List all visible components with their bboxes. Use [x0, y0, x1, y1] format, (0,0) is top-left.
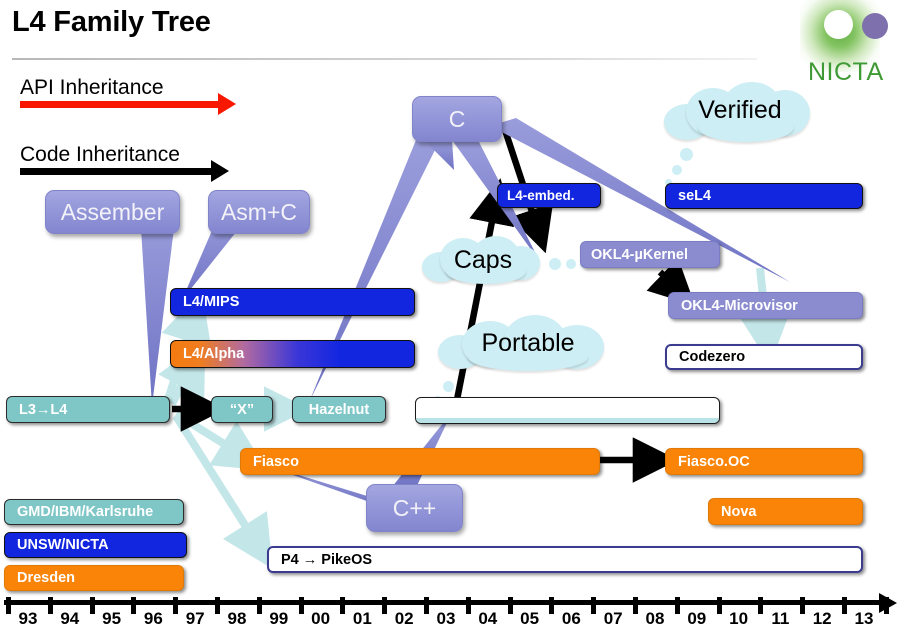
page-title: L4 Family Tree: [12, 6, 211, 39]
timeline-year-label: 11: [760, 609, 800, 629]
nicta-purple-dot-icon: [862, 13, 888, 39]
legend-code-inheritance-label: Code Inheritance: [20, 143, 180, 167]
legend-origin-unsw: UNSW/NICTA: [4, 532, 187, 558]
callout-cpp: C++: [366, 484, 463, 532]
node-okl4-microkernel-label: OKL4-µKernel: [591, 247, 688, 263]
timeline-year-label: 93: [8, 609, 48, 629]
timeline-year-label: 97: [175, 609, 215, 629]
legend-code-arrowhead-icon: [211, 160, 229, 182]
legend-origin-gmd-label: GMD/IBM/Karlsruhe: [17, 504, 153, 520]
callout-cpp-label: C++: [393, 495, 436, 522]
callout-c: C: [412, 96, 502, 142]
node-fiasco-oc-label: Fiasco.OC: [678, 454, 750, 470]
legend-origin-unsw-label: UNSW/NICTA: [17, 537, 109, 553]
legend-api-arrowhead-icon: [218, 93, 236, 115]
timeline-year-label: 95: [92, 609, 132, 629]
timeline-year-label: 01: [342, 609, 382, 629]
timeline-year-label: 99: [259, 609, 299, 629]
legend-code-inheritance-arrow: [20, 168, 218, 175]
node-okl4-microvisor[interactable]: OKL4-Microvisor: [668, 292, 863, 319]
timeline-year-label: 12: [802, 609, 842, 629]
timeline-year-label: 08: [635, 609, 675, 629]
timeline-year-label: 05: [510, 609, 550, 629]
timeline-year-label: 02: [384, 609, 424, 629]
node-fiasco[interactable]: Fiasco: [240, 448, 600, 475]
timeline-year-label: 94: [50, 609, 90, 629]
legend-origin-dresden: Dresden: [4, 565, 184, 591]
node-okl4-microkernel[interactable]: OKL4-µKernel: [580, 241, 720, 268]
cloud-caps-bubble-1: [549, 258, 561, 270]
cloud-portable-bubble-1: [443, 381, 454, 392]
legend-api-inheritance-label: API Inheritance: [20, 76, 164, 100]
node-sel4-label: seL4: [678, 188, 711, 204]
timeline-tick: [884, 597, 889, 614]
cloud-verified: Verified: [660, 82, 820, 144]
node-codezero[interactable]: Codezero: [665, 344, 863, 370]
cloud-portable-label: Portable: [438, 329, 618, 358]
node-sel4[interactable]: seL4: [665, 183, 863, 209]
cloud-portable: Portable: [438, 315, 618, 373]
legend-origin-gmd: GMD/IBM/Karlsruhe: [4, 499, 184, 525]
node-l4-alpha[interactable]: L4/Alpha: [170, 340, 415, 368]
node-nova[interactable]: Nova: [708, 498, 863, 525]
cloud-caps: Caps: [422, 236, 544, 288]
timeline-year-label: 03: [426, 609, 466, 629]
legend-origin-dresden-label: Dresden: [17, 570, 75, 586]
cloud-caps-bubble-2: [566, 259, 576, 269]
callout-assember: Assember: [45, 190, 180, 234]
slide-canvas: L4 Family Tree NICTA API Inheritance Cod…: [0, 0, 901, 631]
timeline-year-label: 07: [593, 609, 633, 629]
node-fiasco-label: Fiasco: [253, 454, 299, 470]
node-p4-pikeos[interactable]: P4 → PikeOS: [267, 546, 863, 573]
cloud-verified-label: Verified: [660, 96, 820, 125]
callout-assember-label: Assember: [61, 199, 165, 226]
node-unlabeled-bottom-band: [416, 418, 719, 423]
timeline-year-label: 96: [133, 609, 173, 629]
callout-c-label: C: [449, 106, 466, 133]
node-l4-mips[interactable]: L4/MIPS: [170, 288, 415, 316]
node-fiasco-oc[interactable]: Fiasco.OC: [665, 448, 863, 475]
legend-api-inheritance-arrow: [20, 101, 225, 108]
node-nova-label: Nova: [721, 504, 756, 520]
node-hazelnut-label: Hazelnut: [309, 402, 369, 418]
timeline-year-label: 06: [551, 609, 591, 629]
node-l4-embed-label: L4-embed.: [507, 188, 575, 203]
node-l4-mips-label: L4/MIPS: [183, 294, 239, 310]
nicta-white-dot-icon: [824, 10, 853, 39]
node-l3-to-l4[interactable]: L3→L4: [6, 396, 170, 423]
timeline-year-label: 09: [677, 609, 717, 629]
node-hazelnut[interactable]: Hazelnut: [292, 396, 386, 423]
node-l4-alpha-label: L4/Alpha: [183, 346, 244, 362]
timeline-year-label: 98: [217, 609, 257, 629]
callout-asm-c: Asm+C: [208, 190, 310, 234]
cloud-verified-bubble-2: [672, 165, 682, 175]
title-divider: [12, 58, 757, 60]
callout-asm-c-label: Asm+C: [221, 199, 297, 226]
node-l4-embed[interactable]: L4-embed.: [497, 183, 601, 208]
node-codezero-label: Codezero: [679, 349, 745, 365]
node-unlabeled-pistachio[interactable]: [415, 397, 720, 424]
node-p4-pikeos-label: P4 → PikeOS: [281, 552, 372, 568]
timeline-year-label: 10: [719, 609, 759, 629]
timeline-year-label: 04: [468, 609, 508, 629]
node-x[interactable]: “X”: [211, 396, 273, 423]
timeline-year-label: 00: [301, 609, 341, 629]
cloud-caps-label: Caps: [422, 246, 544, 275]
cloud-verified-bubble-1: [680, 148, 693, 161]
node-l3-to-l4-label: L3→L4: [19, 402, 67, 418]
node-x-label: “X”: [230, 402, 254, 418]
node-okl4-microvisor-label: OKL4-Microvisor: [681, 298, 798, 314]
timeline-year-label: 13: [844, 609, 884, 629]
